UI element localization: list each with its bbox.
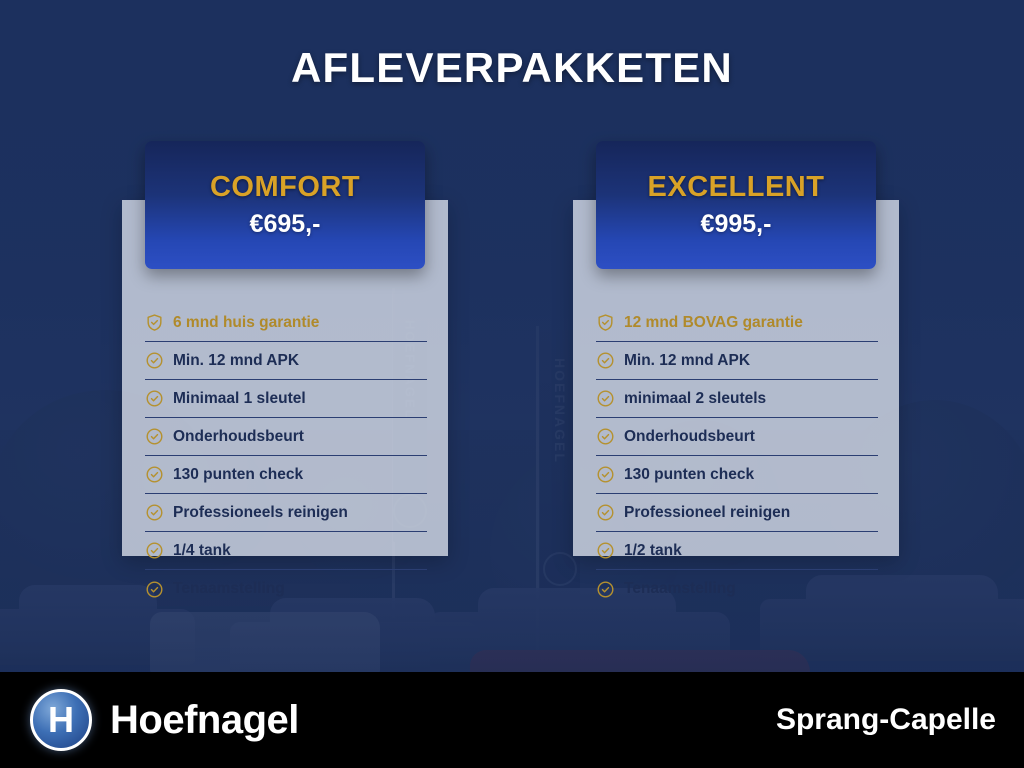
- feature-item: Tenaamstelling: [596, 570, 878, 608]
- feature-label: Tenaamstelling: [624, 580, 736, 598]
- package-name: COMFORT: [210, 171, 360, 204]
- circle-check-icon: [596, 465, 615, 484]
- logo-letter: H: [48, 702, 74, 738]
- feature-item: 130 punten check: [596, 456, 878, 494]
- feature-label: 1/2 tank: [624, 542, 682, 560]
- feature-label: 1/4 tank: [173, 542, 231, 560]
- feature-item: Min. 12 mnd APK: [145, 342, 427, 380]
- feature-item: Minimaal 1 sleutel: [145, 380, 427, 418]
- feature-label: minimaal 2 sleutels: [624, 390, 766, 408]
- footer-bar: H Hoefnagel Sprang-Capelle: [0, 672, 1024, 768]
- feature-item: Professioneels reinigen: [145, 494, 427, 532]
- footer-location: Sprang-Capelle: [776, 703, 996, 737]
- slide-canvas: HOEFNAGEL HOEFNAGEL AFLEVERPAKKETEN COMF…: [0, 0, 1024, 768]
- feature-label: 6 mnd huis garantie: [173, 314, 319, 332]
- feature-item: 12 mnd BOVAG garantie: [596, 304, 878, 342]
- feature-label: Minimaal 1 sleutel: [173, 390, 306, 408]
- package-header-badge: COMFORT €695,-: [145, 141, 425, 269]
- feature-label: Min. 12 mnd APK: [173, 352, 299, 370]
- feature-item: 1/4 tank: [145, 532, 427, 570]
- feature-item: Min. 12 mnd APK: [596, 342, 878, 380]
- feature-label: 130 punten check: [173, 466, 303, 484]
- feature-item: Tenaamstelling: [145, 570, 427, 608]
- feature-label: Onderhoudsbeurt: [624, 428, 755, 446]
- feature-label: Professioneels reinigen: [173, 504, 348, 522]
- feature-label: 12 mnd BOVAG garantie: [624, 314, 803, 332]
- feature-item: 130 punten check: [145, 456, 427, 494]
- feature-item: Professioneel reinigen: [596, 494, 878, 532]
- circle-check-icon: [145, 351, 164, 370]
- shield-check-icon: [596, 313, 615, 332]
- feature-label: 130 punten check: [624, 466, 754, 484]
- circle-check-icon: [596, 389, 615, 408]
- circle-check-icon: [145, 465, 164, 484]
- circle-check-icon: [596, 541, 615, 560]
- circle-check-icon: [145, 427, 164, 446]
- brand-block[interactable]: H Hoefnagel: [30, 689, 299, 751]
- page-title: AFLEVERPAKKETEN: [0, 44, 1024, 92]
- feature-label: Professioneel reinigen: [624, 504, 790, 522]
- package-feature-list: 6 mnd huis garantieMin. 12 mnd APKMinima…: [145, 304, 427, 608]
- circle-check-icon: [145, 389, 164, 408]
- brand-name: Hoefnagel: [110, 698, 299, 743]
- circle-check-icon: [596, 580, 615, 599]
- package-header-badge: EXCELLENT €995,-: [596, 141, 876, 269]
- circle-check-icon: [596, 351, 615, 370]
- feature-label: Tenaamstelling: [173, 580, 285, 598]
- shield-check-icon: [145, 313, 164, 332]
- feature-item: minimaal 2 sleutels: [596, 380, 878, 418]
- circle-check-icon: [596, 503, 615, 522]
- feature-item: 6 mnd huis garantie: [145, 304, 427, 342]
- feature-item: Onderhoudsbeurt: [596, 418, 878, 456]
- package-price: €995,-: [701, 210, 772, 239]
- hoefnagel-logo-icon: H: [30, 689, 92, 751]
- feature-label: Onderhoudsbeurt: [173, 428, 304, 446]
- package-feature-list: 12 mnd BOVAG garantieMin. 12 mnd APKmini…: [596, 304, 878, 608]
- package-price: €695,-: [250, 210, 321, 239]
- circle-check-icon: [145, 503, 164, 522]
- feature-item: 1/2 tank: [596, 532, 878, 570]
- package-name: EXCELLENT: [648, 171, 825, 204]
- feature-item: Onderhoudsbeurt: [145, 418, 427, 456]
- circle-check-icon: [145, 541, 164, 560]
- feature-label: Min. 12 mnd APK: [624, 352, 750, 370]
- circle-check-icon: [596, 427, 615, 446]
- circle-check-icon: [145, 580, 164, 599]
